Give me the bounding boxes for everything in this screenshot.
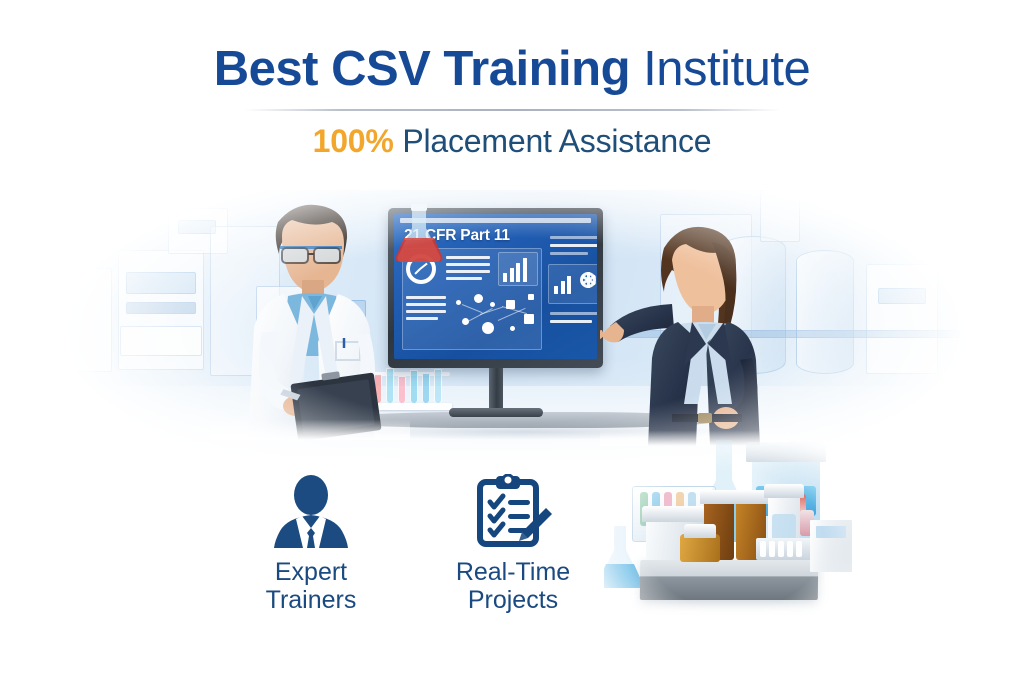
pharma-products-tray xyxy=(604,438,864,634)
page-subtitle: 100% Placement Assistance xyxy=(0,123,1024,160)
feature-real-time-projects[interactable]: Real-Time Projects xyxy=(434,472,592,632)
monitor-neck xyxy=(489,368,503,412)
pharma-fade-mask xyxy=(604,438,864,634)
poster-canvas: Best CSV Training Institute 100% Placeme… xyxy=(0,0,1024,683)
product-tray xyxy=(640,560,818,600)
amber-squat-jar-cap xyxy=(684,524,716,538)
feature-label-expert-trainers: Expert Trainers xyxy=(232,558,390,614)
title-primary: Best CSV Training xyxy=(214,42,630,96)
clipboard-checklist-icon xyxy=(472,474,554,548)
expert-trainer-icon xyxy=(266,474,356,548)
female-presenter xyxy=(600,218,790,446)
red-conical-flask xyxy=(390,204,448,266)
feature-label-line1: Real-Time xyxy=(434,558,592,586)
title-divider xyxy=(244,109,780,111)
amber-squat-jar xyxy=(680,534,720,562)
page-title: Best CSV Training Institute xyxy=(0,44,1024,95)
feature-expert-trainers[interactable]: Expert Trainers xyxy=(232,472,390,632)
title-secondary: Institute xyxy=(643,42,810,96)
subtitle-percent: 100% xyxy=(313,123,394,159)
expert-trainer-icon-wrap xyxy=(232,472,390,550)
clipboard-checklist-icon-wrap xyxy=(434,472,592,550)
subtitle-text: Placement Assistance xyxy=(402,123,711,159)
white-jar-large-cap xyxy=(642,506,706,522)
feature-label-real-time-projects: Real-Time Projects xyxy=(434,558,592,614)
header: Best CSV Training Institute 100% Placeme… xyxy=(0,0,1024,160)
monitor-foot xyxy=(449,408,543,417)
male-scientist xyxy=(210,192,410,440)
bar-chart-icon xyxy=(503,256,527,282)
hero-scene: 21 CFR Part 11 xyxy=(60,190,964,460)
feature-label-line2: Trainers xyxy=(232,586,390,614)
features-row: Expert Trainers xyxy=(232,472,592,632)
hero-fade-mask: 21 CFR Part 11 xyxy=(60,190,964,460)
feature-label-line2: Projects xyxy=(434,586,592,614)
gear-icon xyxy=(580,272,596,288)
white-bottle-tall-cap xyxy=(764,484,804,498)
feature-label-line1: Expert xyxy=(232,558,390,586)
network-diagram-icon xyxy=(452,292,544,338)
